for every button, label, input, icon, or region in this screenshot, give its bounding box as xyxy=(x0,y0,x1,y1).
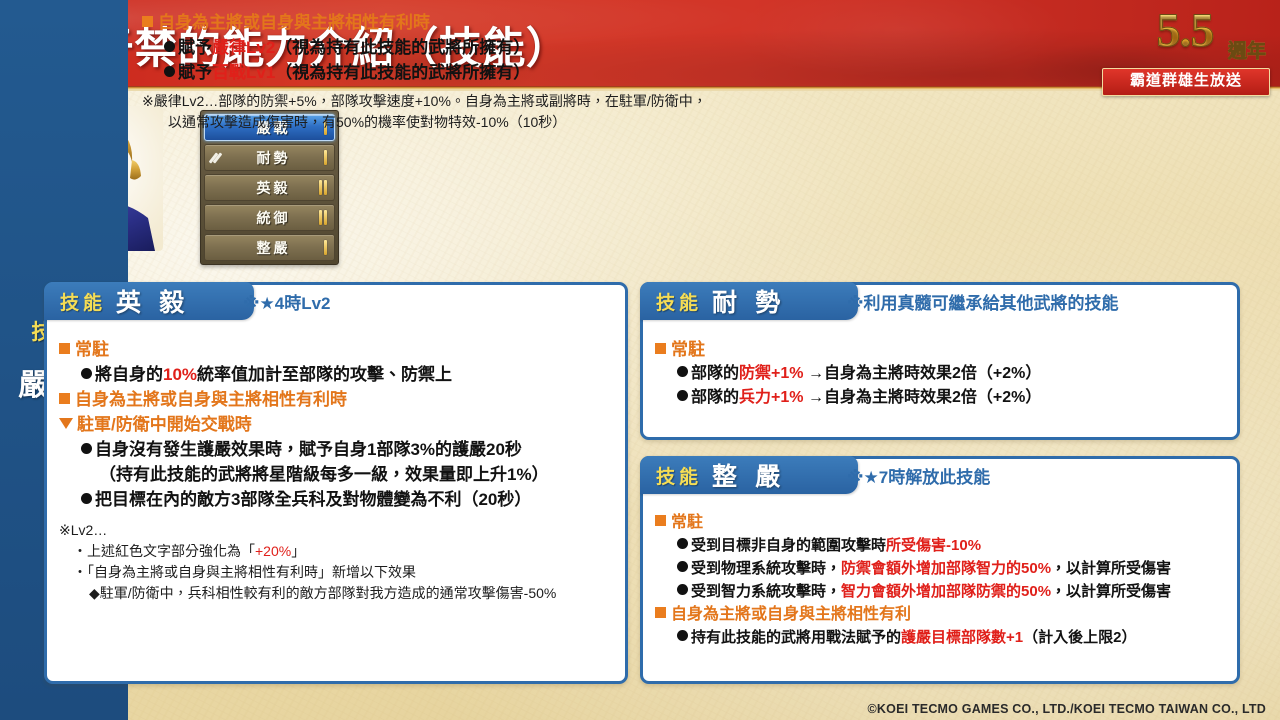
round-bullet-icon xyxy=(677,366,688,377)
skill-name-label: 耐 勢 xyxy=(712,283,786,319)
section-heading-permanent: 常駐 xyxy=(655,511,1227,534)
lv2-note-line-1-suffix: 」 xyxy=(291,543,305,559)
condition-heading-text: 自身為主將或自身與主將相性有利時 xyxy=(158,13,430,32)
section-heading-subcondition: 駐軍/防衛中開始交戰時 xyxy=(59,412,615,437)
effect-line-2-highlight: 百戰Lv1 xyxy=(212,63,275,82)
skill-panel-yanzhan-body: 自身為主將或自身與主將相性有利時 賦予嚴律Lv2（視為持有此技能的武將所擁有） … xyxy=(128,0,888,168)
effect-line-4-text: 把目標在內的敵方3部隊全兵科及對物體變為不利（20秒） xyxy=(95,490,531,509)
effect-line-1: 賦予嚴律Lv2（視為持有此技能的武將所擁有） xyxy=(142,35,888,60)
lv2-note-line-2: ・「自身為主將或自身與主將相性有利時」新增以下效果 xyxy=(59,562,615,583)
round-bullet-icon xyxy=(164,66,175,77)
round-bullet-icon xyxy=(677,584,688,595)
section-heading-condition-text: 自身為主將或自身與主將相性有利 xyxy=(671,606,911,623)
round-bullet-icon xyxy=(81,368,92,379)
effect-line-1: 部隊的防禦+1% →自身為主將時效果2倍（+2%） xyxy=(655,362,1227,386)
effect-line-2: 部隊的兵力+1% →自身為主將時效果2倍（+2%） xyxy=(655,386,1227,410)
effect-line-1-suffix: （視為持有此技能的武將所擁有） xyxy=(275,38,530,57)
skill-panel-zhengyan-tab: 技能 整 嚴 xyxy=(640,456,858,494)
effect-line-1-highlight: 防禦+1% xyxy=(739,365,803,382)
effect-line-2: 受到物理系統攻擊時，防禦會額外增加部隊智力的50%，以計算所受傷害 xyxy=(655,557,1227,580)
round-bullet-icon xyxy=(677,630,688,641)
skill-panel-yingyi: 技能 英 毅 ※★4時Lv2 常駐 將自身的10%統率值加計至部隊的攻擊、防禦上… xyxy=(44,282,628,684)
skill-kind-label: 技能 xyxy=(656,288,702,315)
skill-kind-label: 技能 xyxy=(656,462,702,489)
section-heading-subcondition-text: 駐軍/防衛中開始交戰時 xyxy=(77,415,252,434)
square-bullet-icon xyxy=(655,343,666,354)
skill-panel-naishi: 技能 耐 勢 ※利用真髓可繼承給其他武將的技能 常駐 部隊的防禦+1% →自身為… xyxy=(640,282,1240,440)
effect-line-2: 自身沒有發生護嚴效果時，賦予自身1部隊3%的護嚴20秒 xyxy=(59,437,615,462)
section-heading-permanent-text: 常駐 xyxy=(671,340,705,359)
skill-name-label: 英 毅 xyxy=(116,283,190,319)
effect-line-1-prefix: 將自身的 xyxy=(95,365,163,384)
effect-line-2-suffix: ，以計算所受傷害 xyxy=(1051,560,1171,577)
skill-panel-yingyi-body: 常駐 將自身的10%統率值加計至部隊的攻擊、防禦上 自身為主將或自身與主將相性有… xyxy=(59,337,615,604)
footnote-line-1: ※嚴律Lv2…部隊的防禦+5%，部隊攻擊速度+10%。自身為主將或副將時，在駐軍… xyxy=(142,91,888,112)
effect-line-1-prefix: 部隊的 xyxy=(691,365,739,382)
skill-panel-zhengyan-body: 常駐 受到目標非自身的範圍攻擊時所受傷害-10% 受到物理系統攻擊時，防禦會額外… xyxy=(655,511,1227,649)
skill-unlock-note: ※★4時Lv2 xyxy=(243,289,331,314)
effect-line-2-suffix: →自身為主將時效果2倍（+2%） xyxy=(804,389,1042,406)
section-heading-permanent: 常駐 xyxy=(59,337,615,362)
lv2-note-line-1-prefix: ・上述紅色文字部分強化為「 xyxy=(73,543,255,559)
section-heading-condition-text: 自身為主將或自身與主將相性有利時 xyxy=(75,390,347,409)
lv2-note-line-1-highlight: +20% xyxy=(255,543,291,559)
lv2-note-heading: ※Lv2… xyxy=(59,520,615,541)
square-bullet-icon xyxy=(142,16,153,27)
effect-line-1-highlight: 10% xyxy=(163,365,197,384)
effect-line-3-suffix: ，以計算所受傷害 xyxy=(1051,583,1171,600)
effect-line-1: 受到目標非自身的範圍攻擊時所受傷害-10% xyxy=(655,534,1227,557)
section-heading-condition: 自身為主將或自身與主將相性有利時 xyxy=(59,387,615,412)
section-heading-permanent: 常駐 xyxy=(655,337,1227,362)
skill-panel-zhengyan: 技能 整 嚴 ※★7時解放此技能 常駐 受到目標非自身的範圍攻擊時所受傷害-10… xyxy=(640,456,1240,684)
effect-line-2-prefix: 部隊的 xyxy=(691,389,739,406)
effect-line-1-prefix: 受到目標非自身的範圍攻擊時 xyxy=(691,537,886,554)
footnote-line-2: 以通常攻擊造成傷害時，有50%的機率使對物特效-10%（10秒） xyxy=(142,112,888,133)
square-bullet-icon xyxy=(59,393,70,404)
lv2-note-line-3: ◆駐軍/防衛中，兵科相性較有利的敵方部隊對我方造成的通常攻擊傷害-50% xyxy=(59,583,615,604)
effect-line-1-suffix: →自身為主將時效果2倍（+2%） xyxy=(804,365,1042,382)
skill-panel-yingyi-tab: 技能 英 毅 xyxy=(44,282,254,320)
square-bullet-icon xyxy=(59,343,70,354)
effect-line-1-highlight: 所受傷害-10% xyxy=(886,537,981,554)
effect-line-2-text: 自身沒有發生護嚴效果時，賦予自身1部隊3%的護嚴20秒 xyxy=(95,440,522,459)
effect-line-4-highlight: 護嚴目標部隊數+1 xyxy=(901,629,1023,646)
round-bullet-icon xyxy=(677,561,688,572)
round-bullet-icon xyxy=(81,493,92,504)
skill-panel-naishi-tab: 技能 耐 勢 xyxy=(640,282,858,320)
skill-unlock-note: ※★7時解放此技能 xyxy=(847,463,990,488)
section-heading-condition: 自身為主將或自身與主將相性有利 xyxy=(655,603,1227,626)
effect-line-3: 受到智力系統攻擊時，智力會額外增加部隊防禦的50%，以計算所受傷害 xyxy=(655,580,1227,603)
skill-name-label: 整 嚴 xyxy=(712,457,786,493)
effect-line-2-suffix: （視為持有此技能的武將所擁有） xyxy=(275,63,530,82)
triangle-bullet-icon xyxy=(59,418,73,429)
round-bullet-icon xyxy=(164,41,175,52)
effect-line-1-prefix: 賦予 xyxy=(178,38,212,57)
copyright-notice: ©KOEI TECMO GAMES CO., LTD./KOEI TECMO T… xyxy=(868,702,1266,716)
skill-panel-naishi-body: 常駐 部隊的防禦+1% →自身為主將時效果2倍（+2%） 部隊的兵力+1% →自… xyxy=(655,337,1227,410)
skill-panel-yanzhan-titleblock: 技 能 嚴 戰 xyxy=(0,0,128,168)
effect-line-2-prefix: 賦予 xyxy=(178,63,212,82)
effect-line-4: 持有此技能的武將用戰法賦予的護嚴目標部隊數+1（計入後上限2） xyxy=(655,626,1227,649)
effect-line-4-suffix: （計入後上限2） xyxy=(1023,629,1136,646)
effect-line-2-highlight: 兵力+1% xyxy=(739,389,803,406)
lv2-note-line-1: ・上述紅色文字部分強化為「+20%」 xyxy=(59,541,615,562)
effect-line-2-highlight: 防禦會額外增加部隊智力的50% xyxy=(841,560,1051,577)
round-bullet-icon xyxy=(677,390,688,401)
effect-line-1-highlight: 嚴律Lv2 xyxy=(212,38,275,57)
effect-line-3-prefix: 受到智力系統攻擊時， xyxy=(691,583,841,600)
skill-inherit-note: ※利用真髓可繼承給其他武將的技能 xyxy=(847,289,1119,314)
condition-heading: 自身為主將或自身與主將相性有利時 xyxy=(142,10,888,35)
effect-line-1-suffix: 統率值加計至部隊的攻擊、防禦上 xyxy=(197,365,452,384)
effect-line-4: 把目標在內的敵方3部隊全兵科及對物體變為不利（20秒） xyxy=(59,487,615,512)
square-bullet-icon xyxy=(655,607,666,618)
section-heading-permanent-text: 常駐 xyxy=(671,514,703,531)
effect-line-4-prefix: 持有此技能的武將用戰法賦予的 xyxy=(691,629,901,646)
effect-line-3: （持有此技能的武將將星階級每多一級，效果量即上升1%） xyxy=(59,462,615,487)
effect-line-2: 賦予百戰Lv1（視為持有此技能的武將所擁有） xyxy=(142,60,888,85)
round-bullet-icon xyxy=(677,538,688,549)
effect-line-3-highlight: 智力會額外增加部隊防禦的50% xyxy=(841,583,1051,600)
skill-kind-label: 技能 xyxy=(60,288,106,315)
effect-line-2-prefix: 受到物理系統攻擊時， xyxy=(691,560,841,577)
square-bullet-icon xyxy=(655,515,666,526)
round-bullet-icon xyxy=(81,443,92,454)
effect-line-1: 將自身的10%統率值加計至部隊的攻擊、防禦上 xyxy=(59,362,615,387)
skill-panel-yanzhan: 技 能 嚴 戰 自身為主將或自身與主將相性有利時 賦予嚴律Lv2（視為持有此技能… xyxy=(0,0,888,168)
section-heading-permanent-text: 常駐 xyxy=(75,340,109,359)
